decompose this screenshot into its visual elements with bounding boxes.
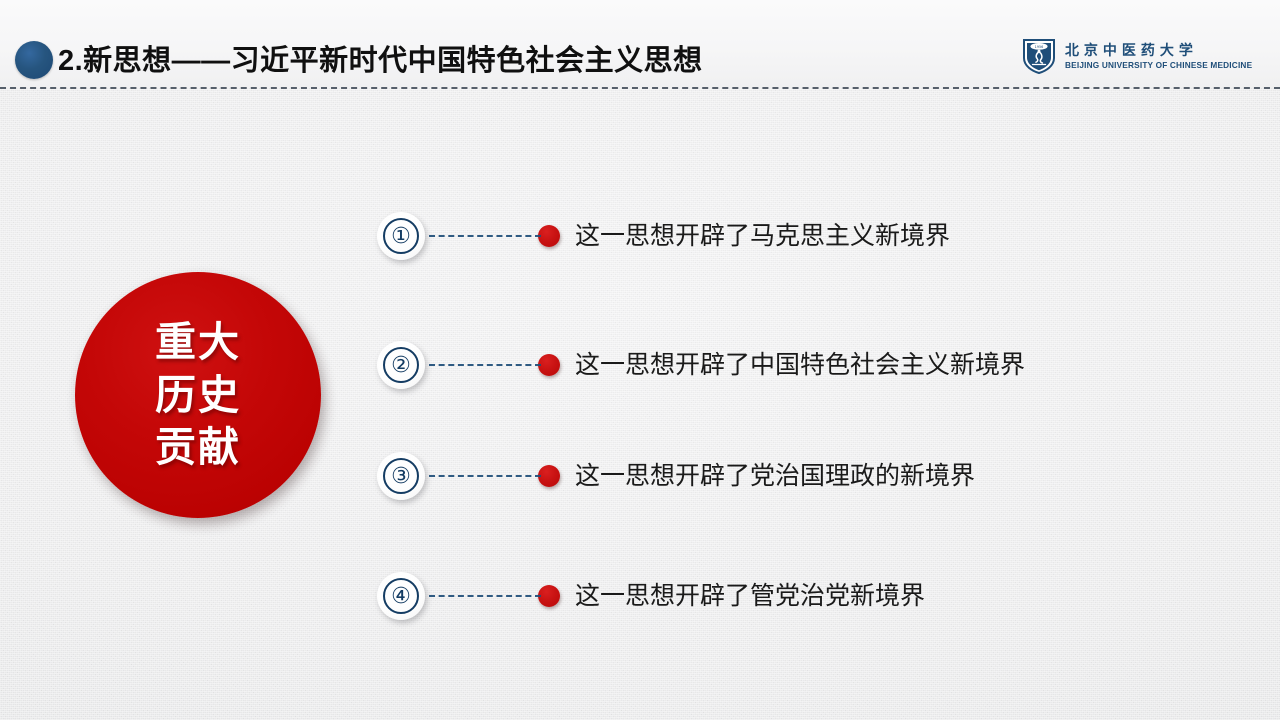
slide-header: 2.新思想——习近平新时代中国特色社会主义思想 1956 北京中医药大学 BEI… (0, 0, 1280, 88)
logo-wordmark: 北京中医药大学 BEIJING UNIVERSITY OF CHINESE ME… (1065, 42, 1258, 70)
list-item[interactable]: ④ 这一思想开辟了管党治党新境界 (377, 570, 925, 622)
item-number-badge: ④ (377, 572, 425, 620)
logo-name-cn: 北京中医药大学 (1065, 42, 1258, 58)
item-text: 这一思想开辟了党治国理政的新境界 (575, 461, 975, 491)
list-item[interactable]: ② 这一思想开辟了中国特色社会主义新境界 (377, 339, 1025, 391)
list-item[interactable]: ③ 这一思想开辟了党治国理政的新境界 (377, 450, 975, 502)
item-number-label: ② (383, 347, 419, 383)
connector-dashed-line (429, 235, 541, 237)
bucm-shield-emblem-icon: 1956 (1022, 38, 1056, 74)
page-title: 2.新思想——习近平新时代中国特色社会主义思想 (58, 42, 703, 80)
title-bullet-icon (15, 41, 53, 79)
connector-dot-icon (538, 585, 560, 607)
slide-canvas: 2.新思想——习近平新时代中国特色社会主义思想 1956 北京中医药大学 BEI… (0, 0, 1280, 720)
connector-dot-icon (538, 465, 560, 487)
connector-dot-icon (538, 225, 560, 247)
item-text: 这一思想开辟了中国特色社会主义新境界 (575, 350, 1025, 380)
list-item[interactable]: ① 这一思想开辟了马克思主义新境界 (377, 210, 950, 262)
item-text: 这一思想开辟了马克思主义新境界 (575, 221, 950, 251)
item-number-badge: ③ (377, 452, 425, 500)
connector-dashed-line (429, 364, 541, 366)
connector-dashed-line (429, 475, 541, 477)
item-number-label: ③ (383, 458, 419, 494)
item-number-badge: ① (377, 212, 425, 260)
item-number-label: ① (383, 218, 419, 254)
item-number-label: ④ (383, 578, 419, 614)
header-divider (0, 87, 1280, 89)
logo-name-en: BEIJING UNIVERSITY OF CHINESE MEDICINE (1065, 60, 1252, 70)
hub-label: 重大 历史 贡献 (155, 316, 241, 473)
connector-dot-icon (538, 354, 560, 376)
connector-dashed-line (429, 595, 541, 597)
item-text: 这一思想开辟了管党治党新境界 (575, 581, 925, 611)
item-number-badge: ② (377, 341, 425, 389)
hub-circle: 重大 历史 贡献 (75, 272, 321, 518)
university-logo: 1956 北京中医药大学 BEIJING UNIVERSITY OF CHINE… (1022, 38, 1258, 74)
svg-text:1956: 1956 (1035, 45, 1044, 49)
